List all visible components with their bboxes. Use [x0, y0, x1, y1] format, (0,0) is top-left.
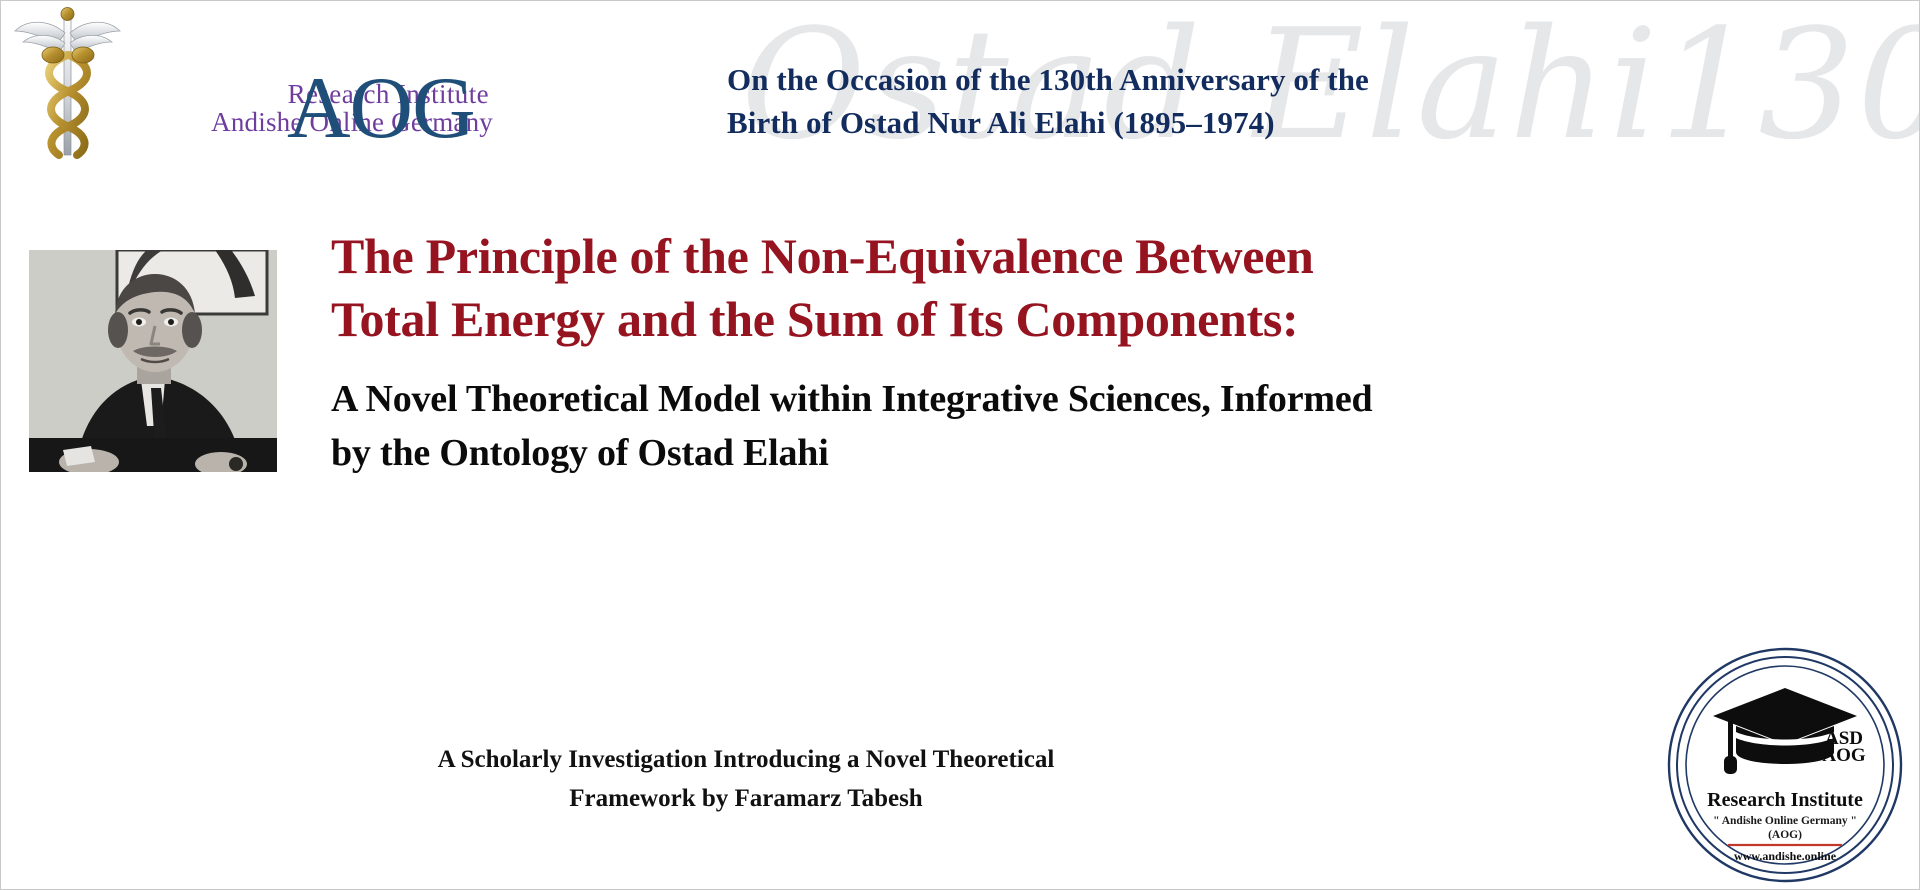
- slide-title: The Principle of the Non-Equivalence Bet…: [331, 225, 1511, 351]
- slide-caption-line-2: Framework by Faramarz Tabesh: [331, 780, 1161, 819]
- research-institute-seal: ASD AOG Research Institute " Andishe Onl…: [1666, 646, 1904, 884]
- occasion-header: On the Occasion of the 130th Anniversary…: [727, 59, 1487, 145]
- aog-logo: Research Institute Andishe Online German…: [9, 5, 569, 175]
- portrait-photo: [29, 250, 277, 472]
- title-slide: Ostad Elahi130: [0, 0, 1920, 890]
- caduceus-icon: [9, 5, 129, 165]
- slide-subtitle: A Novel Theoretical Model within Integra…: [331, 373, 1511, 481]
- slide-caption: A Scholarly Investigation Introducing a …: [331, 741, 1161, 819]
- seal-badge-line2: AOG: [1822, 745, 1866, 766]
- occasion-line-2: Birth of Ostad Nur Ali Elahi (1895–1974): [727, 102, 1487, 145]
- seal-org-acronym: (AOG): [1768, 829, 1802, 841]
- title-block: The Principle of the Non-Equivalence Bet…: [331, 225, 1511, 481]
- slide-title-line-1: The Principle of the Non-Equivalence Bet…: [331, 225, 1511, 288]
- seal-website: www.andishe.online: [1734, 849, 1837, 863]
- seal-org-quoted: " Andishe Online Germany ": [1713, 815, 1857, 827]
- slide-caption-line-1: A Scholarly Investigation Introducing a …: [331, 741, 1161, 780]
- occasion-line-1: On the Occasion of the 130th Anniversary…: [727, 59, 1487, 102]
- slide-title-line-2: Total Energy and the Sum of Its Componen…: [331, 288, 1511, 351]
- seal-institute-name: Research Institute: [1707, 789, 1863, 811]
- slide-subtitle-line-2: by the Ontology of Ostad Elahi: [331, 427, 1511, 481]
- aog-acronym: AOG: [287, 65, 475, 153]
- slide-subtitle-line-1: A Novel Theoretical Model within Integra…: [331, 373, 1511, 427]
